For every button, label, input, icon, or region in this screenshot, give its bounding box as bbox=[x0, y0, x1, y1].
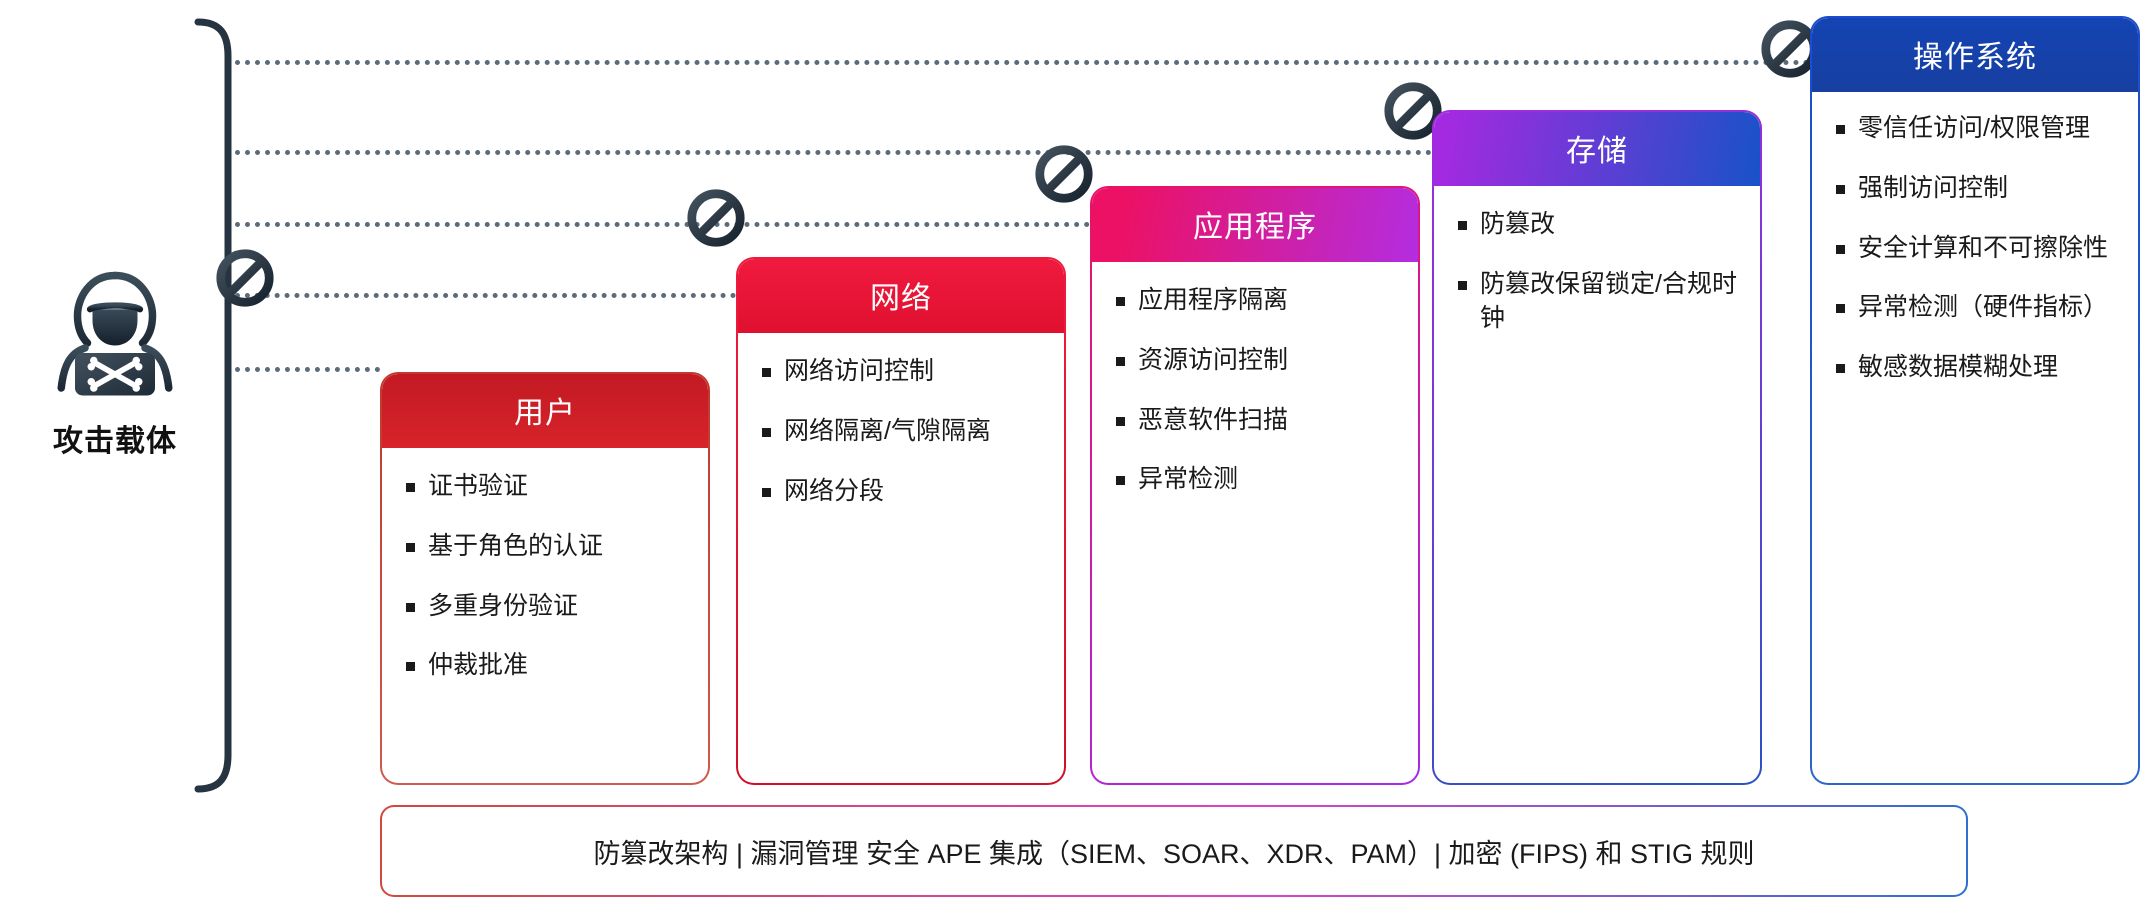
list-item-label: 零信任访问/权限管理 bbox=[1858, 114, 2090, 142]
list-item: 多重身份验证 bbox=[402, 590, 692, 624]
list-item: 异常检测 bbox=[1112, 463, 1402, 497]
card-inner: 存储 防篡改 防篡改保留锁定/合规时钟 bbox=[1434, 112, 1760, 783]
card-title-user: 用户 bbox=[382, 374, 708, 448]
list-item: 应用程序隔离 bbox=[1112, 284, 1402, 318]
attack-vector-label: 攻击载体 bbox=[20, 416, 210, 460]
card-title-os: 操作系统 bbox=[1812, 18, 2138, 92]
bullet-icon bbox=[1836, 364, 1845, 373]
feature-list: 零信任访问/权限管理 强制访问控制 安全计算和不可擦除性 异常检测（硬件指标） … bbox=[1832, 112, 2122, 385]
list-item-label: 敏感数据模糊处理 bbox=[1858, 353, 2058, 381]
bullet-icon bbox=[1116, 417, 1125, 426]
list-item-label: 强制访问控制 bbox=[1858, 174, 2008, 202]
hacker-icon bbox=[40, 258, 190, 408]
list-item-label: 异常检测 bbox=[1138, 465, 1238, 493]
list-item: 网络分段 bbox=[758, 475, 1048, 509]
list-item: 恶意软件扫描 bbox=[1112, 404, 1402, 438]
card-body-application: 应用程序隔离 资源访问控制 恶意软件扫描 异常检测 bbox=[1092, 262, 1418, 783]
feature-list: 应用程序隔离 资源访问控制 恶意软件扫描 异常检测 bbox=[1112, 284, 1402, 497]
diagram-canvas: 攻击载体 用户 证书验证 基于角色的认证 多重身份验证 仲裁批准 bbox=[0, 0, 2146, 916]
attack-line bbox=[235, 222, 1090, 227]
layer-card-user[interactable]: 用户 证书验证 基于角色的认证 多重身份验证 仲裁批准 bbox=[380, 372, 710, 785]
bullet-icon bbox=[1836, 125, 1845, 134]
list-item: 敏感数据模糊处理 bbox=[1832, 351, 2122, 385]
list-item: 强制访问控制 bbox=[1832, 172, 2122, 206]
list-item-label: 网络访问控制 bbox=[784, 357, 934, 385]
card-inner: 应用程序 应用程序隔离 资源访问控制 恶意软件扫描 异常检测 bbox=[1092, 188, 1418, 783]
bullet-icon bbox=[1116, 297, 1125, 306]
card-title-storage: 存储 bbox=[1434, 112, 1760, 186]
list-item: 安全计算和不可擦除性 bbox=[1832, 232, 2122, 266]
list-item-label: 仲裁批准 bbox=[428, 651, 528, 679]
feature-list: 防篡改 防篡改保留锁定/合规时钟 bbox=[1454, 208, 1744, 335]
bullet-icon bbox=[1116, 357, 1125, 366]
list-item: 资源访问控制 bbox=[1112, 344, 1402, 378]
list-item-label: 多重身份验证 bbox=[428, 592, 578, 620]
list-item: 防篡改保留锁定/合规时钟 bbox=[1454, 268, 1744, 336]
bullet-icon bbox=[406, 662, 415, 671]
layer-card-storage[interactable]: 存储 防篡改 防篡改保留锁定/合规时钟 bbox=[1432, 110, 1762, 785]
bullet-icon bbox=[1116, 476, 1125, 485]
no-entry-icon bbox=[1033, 143, 1095, 205]
feature-list: 证书验证 基于角色的认证 多重身份验证 仲裁批准 bbox=[402, 470, 692, 683]
card-body-user: 证书验证 基于角色的认证 多重身份验证 仲裁批准 bbox=[382, 448, 708, 783]
foundation-banner: 防篡改架构 | 漏洞管理 安全 APE 集成（SIEM、SOAR、XDR、PAM… bbox=[380, 805, 1968, 897]
attack-line bbox=[235, 60, 1810, 65]
card-body-os: 零信任访问/权限管理 强制访问控制 安全计算和不可擦除性 异常检测（硬件指标） … bbox=[1812, 92, 2138, 783]
list-item-label: 安全计算和不可擦除性 bbox=[1858, 234, 2108, 262]
card-title-application: 应用程序 bbox=[1092, 188, 1418, 262]
list-item: 仲裁批准 bbox=[402, 649, 692, 683]
bullet-icon bbox=[1458, 281, 1467, 290]
scope-bracket bbox=[190, 18, 260, 793]
layer-card-application[interactable]: 应用程序 应用程序隔离 资源访问控制 恶意软件扫描 异常检测 bbox=[1090, 186, 1420, 785]
list-item: 防篡改 bbox=[1454, 208, 1744, 242]
bullet-icon bbox=[1836, 185, 1845, 194]
no-entry-icon bbox=[685, 187, 747, 249]
list-item-label: 异常检测（硬件指标） bbox=[1858, 293, 2108, 321]
list-item: 零信任访问/权限管理 bbox=[1832, 112, 2122, 146]
bullet-icon bbox=[1458, 221, 1467, 230]
attack-line bbox=[235, 293, 736, 298]
bullet-icon bbox=[406, 483, 415, 492]
bullet-icon bbox=[762, 488, 771, 497]
list-item-label: 恶意软件扫描 bbox=[1138, 406, 1288, 434]
bullet-icon bbox=[762, 428, 771, 437]
bullet-icon bbox=[406, 603, 415, 612]
card-inner: 操作系统 零信任访问/权限管理 强制访问控制 安全计算和不可擦除性 异常检测（硬… bbox=[1812, 18, 2138, 783]
card-inner: 用户 证书验证 基于角色的认证 多重身份验证 仲裁批准 bbox=[382, 374, 708, 783]
list-item-label: 资源访问控制 bbox=[1138, 346, 1288, 374]
list-item: 网络访问控制 bbox=[758, 355, 1048, 389]
banner-text: 防篡改架构 | 漏洞管理 安全 APE 集成（SIEM、SOAR、XDR、PAM… bbox=[593, 832, 1754, 871]
list-item-label: 应用程序隔离 bbox=[1138, 286, 1288, 314]
layer-card-os[interactable]: 操作系统 零信任访问/权限管理 强制访问控制 安全计算和不可擦除性 异常检测（硬… bbox=[1810, 16, 2140, 785]
list-item: 网络隔离/气隙隔离 bbox=[758, 415, 1048, 449]
card-body-storage: 防篡改 防篡改保留锁定/合规时钟 bbox=[1434, 186, 1760, 783]
attack-vector-group: 攻击载体 bbox=[20, 258, 210, 460]
bullet-icon bbox=[1836, 245, 1845, 254]
no-entry-icon bbox=[214, 247, 276, 309]
list-item-label: 证书验证 bbox=[428, 472, 528, 500]
list-item-label: 网络分段 bbox=[784, 477, 884, 505]
layer-card-network[interactable]: 网络 网络访问控制 网络隔离/气隙隔离 网络分段 bbox=[736, 257, 1066, 785]
bullet-icon bbox=[1836, 304, 1845, 313]
list-item-label: 网络隔离/气隙隔离 bbox=[784, 417, 991, 445]
card-inner: 网络 网络访问控制 网络隔离/气隙隔离 网络分段 bbox=[738, 259, 1064, 783]
banner-inner: 防篡改架构 | 漏洞管理 安全 APE 集成（SIEM、SOAR、XDR、PAM… bbox=[382, 807, 1966, 895]
bullet-icon bbox=[406, 543, 415, 552]
bullet-icon bbox=[762, 368, 771, 377]
list-item-label: 基于角色的认证 bbox=[428, 532, 603, 560]
card-body-network: 网络访问控制 网络隔离/气隙隔离 网络分段 bbox=[738, 333, 1064, 783]
list-item: 异常检测（硬件指标） bbox=[1832, 291, 2122, 325]
attack-line bbox=[235, 367, 380, 372]
list-item-label: 防篡改 bbox=[1480, 210, 1555, 238]
attack-line bbox=[235, 150, 1432, 155]
list-item: 基于角色的认证 bbox=[402, 530, 692, 564]
list-item: 证书验证 bbox=[402, 470, 692, 504]
feature-list: 网络访问控制 网络隔离/气隙隔离 网络分段 bbox=[758, 355, 1048, 508]
card-title-network: 网络 bbox=[738, 259, 1064, 333]
list-item-label: 防篡改保留锁定/合规时钟 bbox=[1480, 270, 1737, 332]
